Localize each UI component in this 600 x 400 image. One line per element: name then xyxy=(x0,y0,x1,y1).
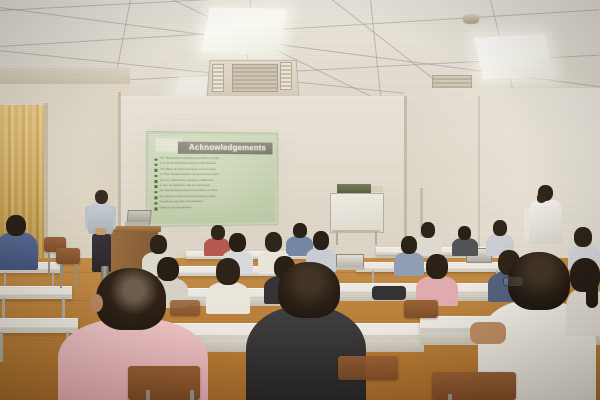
slide-bullet-text: Dr. Li, for his outstanding support of t… xyxy=(159,162,272,166)
audience-head xyxy=(96,268,166,330)
audience-torso xyxy=(452,238,478,256)
seminar-room-photo: Acknowledgements Prof. Zhang and the org… xyxy=(0,0,600,400)
audience-torso xyxy=(0,232,38,270)
audience-head xyxy=(574,227,592,247)
bullet-marker-icon xyxy=(154,202,157,205)
bullet-marker-icon xyxy=(154,197,157,200)
classroom-chair xyxy=(404,300,438,318)
audience-head xyxy=(211,225,225,240)
audience-head xyxy=(150,235,167,254)
wall-mounted-unit xyxy=(337,184,371,193)
classroom-chair xyxy=(56,248,80,264)
wall-mounted-unit-side xyxy=(371,186,383,192)
ceiling-light-panel xyxy=(201,7,287,56)
audience-torso xyxy=(394,252,424,276)
slide-bullet-text: Dr. Chen, for data collection and proces… xyxy=(159,173,272,176)
slide-bullet-text: Prof. Wang, for helpful discussion and c… xyxy=(159,168,272,172)
bullet-marker-icon xyxy=(154,186,157,189)
desk-leg xyxy=(0,332,3,362)
audience-torso xyxy=(206,282,250,314)
bullet-marker-icon xyxy=(154,158,157,161)
bullet-marker-icon xyxy=(154,180,157,183)
chair-frame xyxy=(60,264,62,288)
audience-head xyxy=(313,231,329,250)
slide-bullet-text: Dr. Sun, for assistance with the experim… xyxy=(159,184,272,188)
audience-head xyxy=(278,262,340,318)
ponytail xyxy=(586,282,598,308)
audience-head xyxy=(458,226,471,240)
audience-head xyxy=(421,222,435,238)
slide-bullet-list: Prof. Zhang and the organizing committee… xyxy=(154,157,271,221)
audience-head xyxy=(216,258,240,285)
chair-frame xyxy=(448,394,452,400)
classroom-chair xyxy=(338,356,398,380)
presenter-hands xyxy=(95,228,107,235)
slide-bullet-text: Prof. Liu, National Key Laboratory colla… xyxy=(159,179,272,182)
classroom-chair xyxy=(432,372,516,400)
slide-bullet: The National Natural Science Foundation … xyxy=(154,189,271,193)
slide-bullet: Prof. Wang, for helpful discussion and c… xyxy=(154,168,271,172)
presenter-head xyxy=(95,190,108,204)
projection-screen: Acknowledgements Prof. Zhang and the org… xyxy=(146,131,278,227)
whiteboard-marker-tray xyxy=(332,230,380,233)
slide-bullet-text: All students and staff of the laboratory xyxy=(159,200,272,204)
audience-head xyxy=(426,254,448,279)
slide-title: Acknowledgements xyxy=(182,142,273,155)
audience-head xyxy=(493,220,507,236)
ac-vent-right xyxy=(280,62,292,90)
classroom-chair xyxy=(170,300,200,316)
laptop-base xyxy=(334,267,365,270)
smoke-detector-icon xyxy=(463,14,479,23)
chair-frame xyxy=(190,390,194,400)
slide-bullet-text: The National Natural Science Foundation … xyxy=(159,189,272,193)
ac-grille-icon xyxy=(232,64,278,92)
bullet-marker-icon xyxy=(154,169,157,172)
bag xyxy=(372,286,406,300)
chair-frame xyxy=(75,264,77,288)
slide-bullet-text: Thank you for your attention xyxy=(159,205,272,209)
whiteboard xyxy=(330,193,384,233)
chair-frame xyxy=(146,390,150,400)
bullet-marker-icon xyxy=(154,164,157,167)
audience-ear xyxy=(90,294,103,312)
slide-bullet: The Ministry of Science and Technology p… xyxy=(154,194,271,199)
standing-attendee-beard xyxy=(537,196,546,203)
bullet-marker-icon xyxy=(154,207,157,210)
ac-vent-left xyxy=(212,64,224,92)
whiteboard-leg xyxy=(375,231,377,245)
slide-bullet-text: Prof. Zhang and the organizing committee… xyxy=(159,157,272,161)
slide-bullet: Dr. Li, for his outstanding support of t… xyxy=(154,162,271,167)
student-desk xyxy=(0,318,78,333)
audience-head xyxy=(401,236,417,254)
ceiling-soffit xyxy=(0,68,130,84)
audience-head xyxy=(265,232,282,252)
slide-bullet: Dr. Chen, for data collection and proces… xyxy=(154,173,271,177)
audience-head xyxy=(6,215,26,236)
laptop-base xyxy=(125,222,150,226)
slide-bullet: Dr. Sun, for assistance with the experim… xyxy=(154,184,271,188)
standing-attendee-torso xyxy=(529,200,562,244)
eyeglasses-icon xyxy=(503,277,523,286)
whiteboard-leg xyxy=(336,231,338,245)
slide-bullet: Prof. Liu, National Key Laboratory colla… xyxy=(154,179,271,183)
ceiling-light-panel xyxy=(474,34,555,80)
bullet-marker-icon xyxy=(154,191,157,194)
audience-torso xyxy=(246,306,366,400)
slide-bullet-text: The Ministry of Science and Technology p… xyxy=(159,194,272,198)
slide-bullet: All students and staff of the laboratory xyxy=(154,200,271,205)
chair-frame xyxy=(48,252,50,274)
slide-bullet: Thank you for your attention xyxy=(154,205,271,210)
audience-head xyxy=(157,257,179,281)
bullet-marker-icon xyxy=(154,175,157,178)
audience-arm xyxy=(470,322,506,344)
audience-head xyxy=(293,223,307,238)
presentation-slide: Acknowledgements Prof. Zhang and the org… xyxy=(149,134,275,224)
audience-head xyxy=(229,233,246,252)
slide-bullet: Prof. Zhang and the organizing committee… xyxy=(154,157,271,162)
